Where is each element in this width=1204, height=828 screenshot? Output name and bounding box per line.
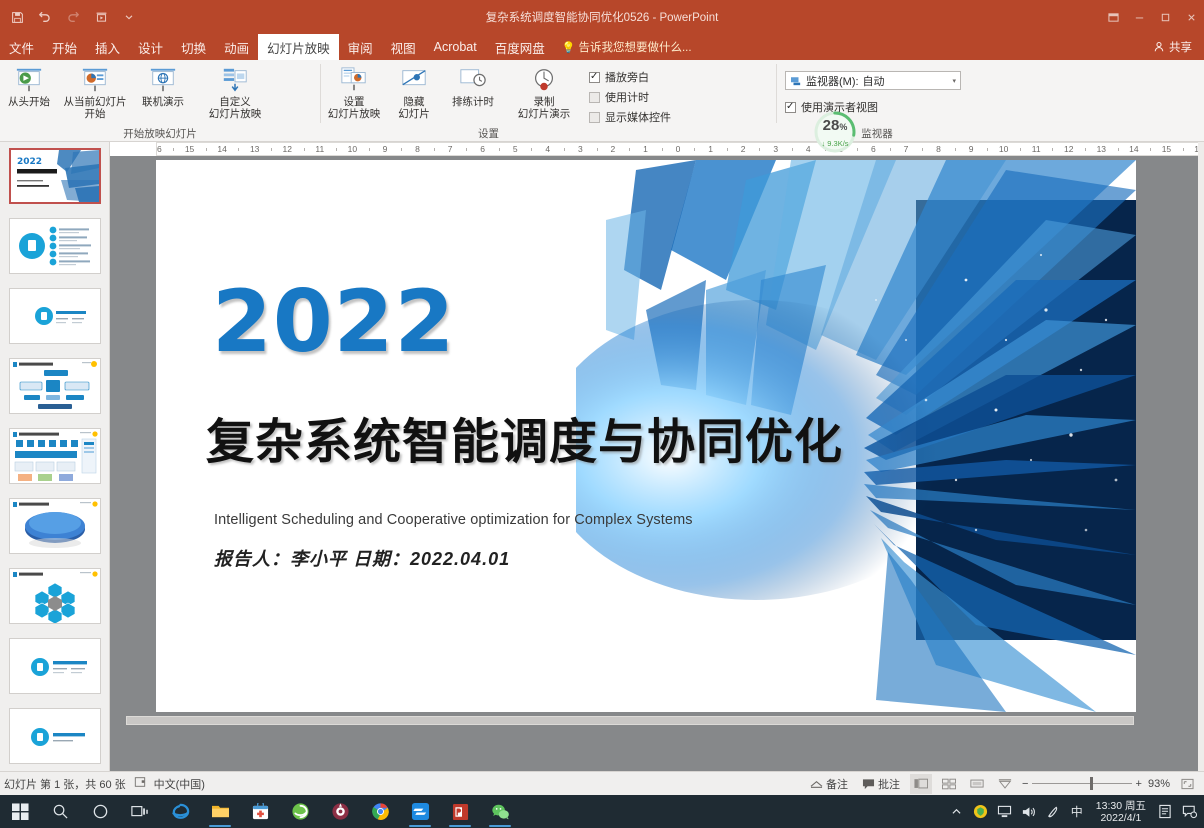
save-icon[interactable]: [4, 5, 30, 29]
redo-icon[interactable]: [60, 5, 86, 29]
status-bar: 幻灯片 第 1 张，共 60 张 中文(中国) 备注 批注: [0, 771, 1204, 795]
ruler-minor-tick-h: [694, 148, 695, 151]
ruler-tick-h: 6: [871, 144, 876, 154]
powerpoint-window: 复杂系统调度智能协同优化0526 - PowerPoint 文件 开始 插入 设…: [0, 0, 1204, 828]
slide-presenter-date-text: 报告人：李小平 日期：2022.04.01: [214, 545, 510, 571]
action-center-icon[interactable]: [1178, 795, 1200, 828]
scrollbar-thumb[interactable]: [127, 717, 1133, 724]
windows-taskbar: 中 13:30 周五 2022/4/1: [0, 795, 1204, 828]
ruler-minor-tick-h: [304, 148, 305, 151]
zoom-out-button[interactable]: −: [1022, 778, 1028, 790]
comment-icon: [862, 778, 875, 790]
ruler-minor-tick-h: [1150, 148, 1151, 151]
ruler-tick-h: 9: [969, 144, 974, 154]
taskbar-icons: [0, 795, 520, 828]
ruler-minor-tick-h: [206, 148, 207, 151]
ruler-minor-tick-h: [629, 148, 630, 151]
tab-baidu-netdisk[interactable]: 百度网盘: [486, 34, 554, 60]
ribbon-tab-bar: 文件 开始 插入 设计 切换 动画 幻灯片放映 审阅 视图 Acrobat 百度…: [0, 34, 1204, 60]
tab-slideshow[interactable]: 幻灯片放映: [258, 34, 339, 60]
quick-access-toolbar: [0, 5, 142, 29]
slideshow-view-button[interactable]: [994, 774, 1016, 794]
ruler-tick-h: 14: [217, 144, 226, 154]
custom-slideshow-button[interactable]: 自定义 幻灯片放映: [194, 63, 276, 120]
ruler-minor-tick-h: [531, 148, 532, 151]
zoom-slider[interactable]: − +: [1022, 778, 1142, 790]
notes-label: 备注: [826, 776, 848, 792]
search-icon[interactable]: [40, 795, 80, 828]
monitor-select[interactable]: 监视器(M): 自动 ▾: [785, 71, 961, 90]
from-beginning-label: 从头开始: [8, 97, 50, 109]
monitor-select-value: 自动: [863, 73, 885, 89]
ruler-tick-h: 8: [936, 144, 941, 154]
ruler-tick-h: 9: [383, 144, 388, 154]
use-timings-row[interactable]: 使用计时: [589, 89, 671, 105]
ruler-tick-h: 16: [156, 144, 162, 154]
ruler-minor-tick-h: [1020, 148, 1021, 151]
language-indicator[interactable]: 中文(中国): [154, 776, 205, 792]
ruler-minor-tick-h: [792, 148, 793, 151]
current-slide[interactable]: 2022 复杂系统智能调度与协同优化 Intelligent Schedulin…: [156, 160, 1136, 712]
ruler-minor-tick-h: [564, 148, 565, 151]
ruler-tick-h: 11: [315, 144, 324, 154]
slide-thumbnail-5[interactable]: [9, 428, 101, 484]
cortana-icon[interactable]: [80, 795, 120, 828]
ruler-tick-h: 2: [611, 144, 616, 154]
chevron-down-icon[interactable]: ▾: [952, 77, 956, 85]
record-slideshow-label: 录制 幻灯片演示: [518, 97, 571, 120]
ruler-tick-h: 1: [643, 144, 648, 154]
ruler-minor-tick-h: [173, 148, 174, 151]
slide-thumbnail-9[interactable]: [9, 708, 101, 764]
ruler-tick-h: 6: [480, 144, 485, 154]
slide-thumbnail-8[interactable]: [9, 638, 101, 694]
file-explorer-icon[interactable]: [200, 795, 240, 828]
setup-checkbox-group: 播放旁白 使用计时 显示媒体控件: [583, 63, 679, 125]
setup-slideshow-label: 设置 幻灯片放映: [328, 97, 381, 120]
ruler-minor-tick-h: [987, 148, 988, 151]
zoom-in-button[interactable]: +: [1136, 778, 1142, 790]
ruler-tick-h: 12: [283, 144, 292, 154]
ruler-minor-tick-h: [369, 148, 370, 151]
notes-icon: [810, 778, 823, 790]
ruler-minor-tick-h: [336, 148, 337, 151]
presenter-view-checkbox[interactable]: [785, 102, 796, 113]
clock-date: 2022/4/1: [1096, 812, 1146, 824]
shield-icon[interactable]: [970, 795, 992, 828]
ruler-tick-h: 14: [1129, 144, 1138, 154]
hide-slide-label: 隐藏 幻灯片: [398, 97, 430, 120]
ruler-minor-tick-h: [1085, 148, 1086, 151]
ruler-tick-h: 13: [250, 144, 259, 154]
monitor-icon: [790, 76, 802, 86]
accessibility-icon[interactable]: [134, 776, 146, 791]
tell-me-box[interactable]: 💡 告诉我您想要做什么...: [554, 34, 700, 60]
tab-home[interactable]: 开始: [43, 34, 86, 60]
customize-qat-icon[interactable]: [116, 5, 142, 29]
hide-slide-button[interactable]: 隐藏 幻灯片: [387, 63, 441, 120]
rehearse-timings-button[interactable]: 排练计时: [441, 63, 505, 109]
ruler-tick-h: 2: [741, 144, 746, 154]
ribbon: 从头开始 从当前幻灯片 开始 联机演示: [0, 60, 1204, 142]
slide-thumbnail-pane[interactable]: 2022: [0, 142, 110, 771]
ribbon-group-start-slideshow: 从头开始 从当前幻灯片 开始 联机演示: [0, 60, 320, 141]
zoom-knob[interactable]: [1090, 777, 1093, 790]
ruler-minor-tick-h: [922, 148, 923, 151]
hide-slide-icon: [399, 65, 429, 95]
clock-time: 13:30 周五: [1096, 800, 1146, 812]
tab-animations[interactable]: 动画: [215, 34, 258, 60]
play-narrations-checkbox[interactable]: [589, 72, 600, 83]
custom-slideshow-label: 自定义 幻灯片放映: [209, 97, 262, 120]
ruler-tick-h: 4: [545, 144, 550, 154]
ruler-minor-tick-h: [955, 148, 956, 151]
show-media-controls-checkbox[interactable]: [589, 112, 600, 123]
ruler-minor-tick-h: [759, 148, 760, 151]
security-icon[interactable]: [320, 795, 360, 828]
ruler-tick-h: 15: [185, 144, 194, 154]
download-percent: 28%: [806, 117, 864, 134]
tell-me-label: 告诉我您想要做什么...: [578, 39, 691, 55]
normal-view-button[interactable]: [910, 774, 932, 794]
internet-explorer-icon[interactable]: [160, 795, 200, 828]
start-slideshow-icon[interactable]: [88, 5, 114, 29]
ruler-tick-h: 0: [676, 144, 681, 154]
show-hidden-icons-button[interactable]: [946, 795, 968, 828]
rehearse-timings-label: 排练计时: [452, 97, 494, 109]
play-narrations-label: 播放旁白: [605, 69, 649, 85]
ruler-tick-h: 12: [1064, 144, 1073, 154]
ruler-minor-tick-h: [727, 148, 728, 151]
from-beginning-button[interactable]: 从头开始: [0, 63, 58, 109]
reading-view-button[interactable]: [966, 774, 988, 794]
tab-file[interactable]: 文件: [0, 34, 43, 60]
share-label: 共享: [1169, 39, 1192, 55]
group-label-start-slideshow: 开始放映幻灯片: [0, 126, 320, 141]
browser-360-icon[interactable]: [280, 795, 320, 828]
wechat-icon[interactable]: [480, 795, 520, 828]
present-online-label: 联机演示: [142, 97, 184, 109]
ruler-minor-tick-h: [597, 148, 598, 151]
ruler-minor-tick-h: [1052, 148, 1053, 151]
zoom-track[interactable]: [1032, 783, 1131, 784]
show-media-controls-row[interactable]: 显示媒体控件: [589, 109, 671, 125]
ruler-minor-tick-h: [401, 148, 402, 151]
chrome-icon[interactable]: [360, 795, 400, 828]
ruler-minor-tick-h: [434, 148, 435, 151]
download-speed: ↓ 9.3K/s: [806, 139, 864, 148]
horizontal-scrollbar[interactable]: [126, 716, 1134, 725]
setup-slideshow-icon: [339, 65, 369, 95]
ruler-tick-h: 5: [513, 144, 518, 154]
share-button[interactable]: 共享: [1145, 36, 1200, 58]
svg-text:2022: 2022: [17, 157, 42, 167]
fit-slide-button[interactable]: [1176, 774, 1198, 794]
close-button[interactable]: [1178, 2, 1204, 32]
tab-review[interactable]: 审阅: [339, 34, 382, 60]
ruler-tick-h: 10: [999, 144, 1008, 154]
tab-insert[interactable]: 插入: [86, 34, 129, 60]
ruler-minor-tick-h: [890, 148, 891, 151]
rehearse-timings-icon: [458, 65, 488, 95]
from-current-slide-icon: [80, 65, 110, 95]
use-timings-label: 使用计时: [605, 89, 649, 105]
from-beginning-icon: [14, 65, 44, 95]
tab-transitions[interactable]: 切换: [172, 34, 215, 60]
ruler-minor-tick-h: [662, 148, 663, 151]
slide-thumbnail-4[interactable]: [9, 358, 101, 414]
minimize-button[interactable]: [1126, 2, 1152, 32]
tab-view[interactable]: 视图: [382, 34, 425, 60]
volume-icon[interactable]: [1018, 795, 1040, 828]
xunlei-icon[interactable]: [400, 795, 440, 828]
ruler-tick-h: 3: [773, 144, 778, 154]
system-tray: 中 13:30 周五 2022/4/1: [946, 795, 1204, 828]
person-icon: [1153, 41, 1165, 53]
ruler-tick-h: 7: [904, 144, 909, 154]
lightbulb-icon: 💡: [562, 41, 576, 54]
group-label-setup: 设置: [321, 126, 776, 141]
network-icon[interactable]: [994, 795, 1016, 828]
play-narrations-row[interactable]: 播放旁白: [589, 69, 671, 85]
download-progress-badge[interactable]: 28% ↓ 9.3K/s: [806, 108, 864, 156]
slide-thumbnail-2[interactable]: [9, 218, 101, 274]
setup-slideshow-button[interactable]: 设置 幻灯片放映: [321, 63, 387, 120]
from-current-slide-button[interactable]: 从当前幻灯片 开始: [58, 63, 132, 120]
ribbon-display-options-icon[interactable]: [1100, 2, 1126, 32]
comments-label: 批注: [878, 776, 900, 792]
notes-button[interactable]: 备注: [806, 774, 852, 794]
start-button[interactable]: [0, 795, 40, 828]
ruler-tick-h: 3: [578, 144, 583, 154]
show-media-controls-label: 显示媒体控件: [605, 109, 671, 125]
window-title: 复杂系统调度智能协同优化0526 - PowerPoint: [0, 9, 1204, 25]
maximize-button[interactable]: [1152, 2, 1178, 32]
ruler-minor-tick-h: [499, 148, 500, 151]
monitor-select-label: 监视器(M):: [806, 73, 859, 89]
slide-counter[interactable]: 幻灯片 第 1 张，共 60 张: [4, 776, 126, 792]
ruler-minor-tick-h: [1118, 148, 1119, 151]
horizontal-ruler: 1615141312111098765432101234567891011121…: [156, 142, 1200, 156]
ruler-minor-tick-h: [1183, 148, 1184, 151]
title-bar: 复杂系统调度智能协同优化0526 - PowerPoint: [0, 0, 1204, 34]
present-online-icon: [148, 65, 178, 95]
slide-thumbnail-1[interactable]: 2022: [9, 148, 101, 204]
ruler-tick-h: 8: [415, 144, 420, 154]
ruler-tick-h: 11: [1032, 144, 1041, 154]
record-slideshow-icon: [529, 65, 559, 95]
ruler-minor-tick-h: [271, 148, 272, 151]
tab-acrobat[interactable]: Acrobat: [425, 34, 486, 60]
window-controls: [1100, 0, 1204, 34]
ruler-tick-h: 10: [348, 144, 357, 154]
ruler-tick-h: 13: [1097, 144, 1106, 154]
slide-sorter-view-button[interactable]: [938, 774, 960, 794]
taskbar-clock[interactable]: 13:30 周五 2022/4/1: [1090, 800, 1152, 824]
custom-slideshow-icon: [220, 65, 250, 95]
zoom-level-label[interactable]: 93%: [1148, 778, 1170, 790]
notification-center-icon[interactable]: [1154, 795, 1176, 828]
slide-thumbnail-3[interactable]: [9, 288, 101, 344]
slide-year-text: 2022: [212, 272, 455, 372]
ribbon-group-setup: 设置 幻灯片放映 隐藏 幻灯片 排练计时: [321, 60, 776, 141]
ruler-tick-h: 7: [448, 144, 453, 154]
present-online-button[interactable]: 联机演示: [132, 63, 194, 109]
slide-canvas-area: 2022 复杂系统智能调度与协同优化 Intelligent Schedulin…: [110, 156, 1204, 771]
ruler-minor-tick-h: [238, 148, 239, 151]
slide-subtitle-text: Intelligent Scheduling and Cooperative o…: [214, 512, 693, 528]
input-tool-icon[interactable]: [1042, 795, 1064, 828]
slide-thumbnail-7[interactable]: [9, 568, 101, 624]
powerpoint-icon[interactable]: [440, 795, 480, 828]
slide-thumbnail-6[interactable]: [9, 498, 101, 554]
from-current-slide-label: 从当前幻灯片 开始: [64, 97, 127, 120]
comments-button[interactable]: 批注: [858, 774, 904, 794]
slide-title-text: 复杂系统智能调度与协同优化: [206, 402, 843, 472]
store-icon[interactable]: [240, 795, 280, 828]
vertical-scrollbar[interactable]: [1198, 142, 1204, 771]
task-view-icon[interactable]: [120, 795, 160, 828]
use-timings-checkbox[interactable]: [589, 92, 600, 103]
tab-design[interactable]: 设计: [129, 34, 172, 60]
undo-icon[interactable]: [32, 5, 58, 29]
ruler-minor-tick-h: [466, 148, 467, 151]
ruler-tick-h: 1: [708, 144, 713, 154]
ruler-tick-h: 15: [1162, 144, 1171, 154]
record-slideshow-button[interactable]: 录制 幻灯片演示: [505, 63, 583, 120]
ime-icon[interactable]: 中: [1066, 795, 1088, 828]
